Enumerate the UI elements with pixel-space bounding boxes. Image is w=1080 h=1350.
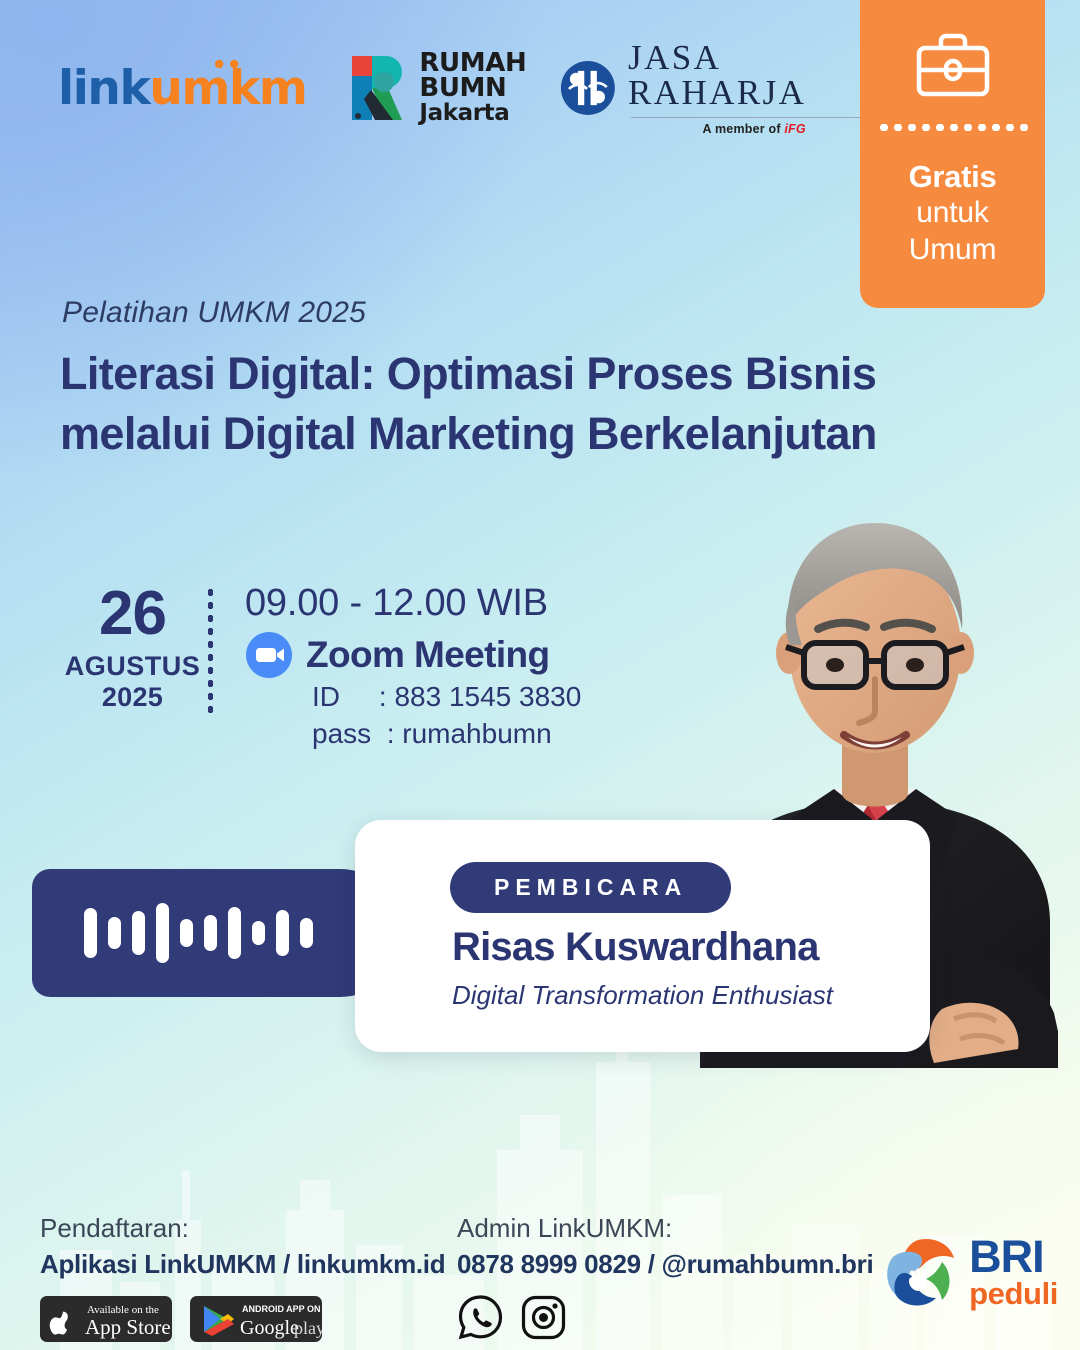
vertical-dotted-divider <box>208 586 213 718</box>
badge-title: Gratis <box>909 159 997 195</box>
linkumkm-logo: linkumkm <box>58 65 306 112</box>
jasa-raharja-logo: JASA RAHARJA A member of iFG <box>560 40 880 136</box>
admin-label: Admin LinkUMKM: <box>457 1213 873 1244</box>
divider <box>631 117 877 118</box>
jasa-raharja-mark-icon <box>560 57 616 119</box>
registration-label: Pendaftaran: <box>40 1213 445 1244</box>
speaker-card: PEMBICARA Risas Kuswardhana Digital Tran… <box>355 820 930 1052</box>
poster-canvas: linkumkm RUMAH BUMN Jakarta <box>0 0 1080 1350</box>
badge-subtitle-2: Umum <box>909 232 997 269</box>
linkumkm-logo-umkm: umkm <box>149 61 306 116</box>
social-icons <box>457 1294 873 1341</box>
jasa-raharja-member-text: A member of iFG <box>703 122 806 136</box>
partner-logos: linkumkm RUMAH BUMN Jakarta <box>0 48 860 128</box>
event-kicker: Pelatihan UMKM 2025 <box>62 296 366 330</box>
speaker-title: Digital Transformation Enthusiast <box>452 980 833 1011</box>
rumah-bumn-mark-icon <box>348 52 410 124</box>
event-platform: Zoom Meeting <box>306 634 550 676</box>
whatsapp-icon[interactable] <box>457 1294 504 1341</box>
svg-text:Google: Google <box>240 1317 299 1339</box>
google-play-badge-icon[interactable]: ANDROID APP ON Google play <box>190 1296 322 1342</box>
dotted-divider <box>877 124 1029 131</box>
bri-wordmark: BRI <box>969 1236 1058 1277</box>
peduli-wordmark: peduli <box>969 1280 1058 1309</box>
linkumkm-logo-link: link <box>58 61 149 116</box>
rumah-bumn-logo: RUMAH BUMN Jakarta <box>348 51 526 124</box>
umlaut-dots-icon <box>149 59 306 69</box>
registration-value: Aplikasi LinkUMKM / linkumkm.id <box>40 1249 445 1280</box>
event-time: 09.00 - 12.00 WIB <box>245 582 581 625</box>
page-title: Literasi Digital: Optimasi Proses Bisnis… <box>60 344 1000 464</box>
rumah-bumn-wordmark: RUMAH BUMN Jakarta <box>419 51 526 124</box>
zoom-camera-icon <box>245 631 293 679</box>
event-month: AGUSTUS <box>50 651 215 682</box>
speaker-name: Risas Kuswardhana <box>452 925 819 970</box>
bri-peduli-logo: BRI peduli <box>882 1234 1058 1310</box>
svg-text:App Store: App Store <box>85 1315 171 1339</box>
gratis-badge: Gratis untuk Umum <box>860 0 1045 308</box>
audio-waveform-icon <box>32 869 404 997</box>
event-day: 26 <box>50 585 215 644</box>
badge-subtitle-1: untuk <box>916 195 988 232</box>
svg-text:ANDROID APP ON: ANDROID APP ON <box>242 1304 321 1314</box>
admin-contact-info: Admin LinkUMKM: 0878 8999 0829 / @rumahb… <box>457 1213 873 1341</box>
event-passcode: pass : rumahbumn <box>312 716 581 753</box>
admin-value: 0878 8999 0829 / @rumahbumn.bri <box>457 1249 873 1280</box>
event-date: 26 AGUSTUS 2025 <box>50 585 215 713</box>
jasa-raharja-wordmark: JASA RAHARJA <box>628 40 880 110</box>
waveform-bars <box>84 893 313 973</box>
event-platform-details: 09.00 - 12.00 WIB Zoom Meeting ID : 883 … <box>245 582 581 752</box>
app-store-badge-icon[interactable]: Available on the App Store <box>40 1296 172 1342</box>
svg-text:play: play <box>294 1318 322 1338</box>
app-store-badges: Available on the App Store ANDROID APP O… <box>40 1296 445 1342</box>
briefcase-icon <box>913 30 993 100</box>
speaker-role-badge: PEMBICARA <box>450 862 731 913</box>
registration-info: Pendaftaran: Aplikasi LinkUMKM / linkumk… <box>40 1213 445 1342</box>
event-meeting-id: ID : 883 1545 3830 <box>312 679 581 716</box>
bri-peduli-mark-icon <box>882 1234 960 1310</box>
instagram-icon[interactable] <box>520 1294 567 1341</box>
event-year: 2025 <box>50 682 215 713</box>
